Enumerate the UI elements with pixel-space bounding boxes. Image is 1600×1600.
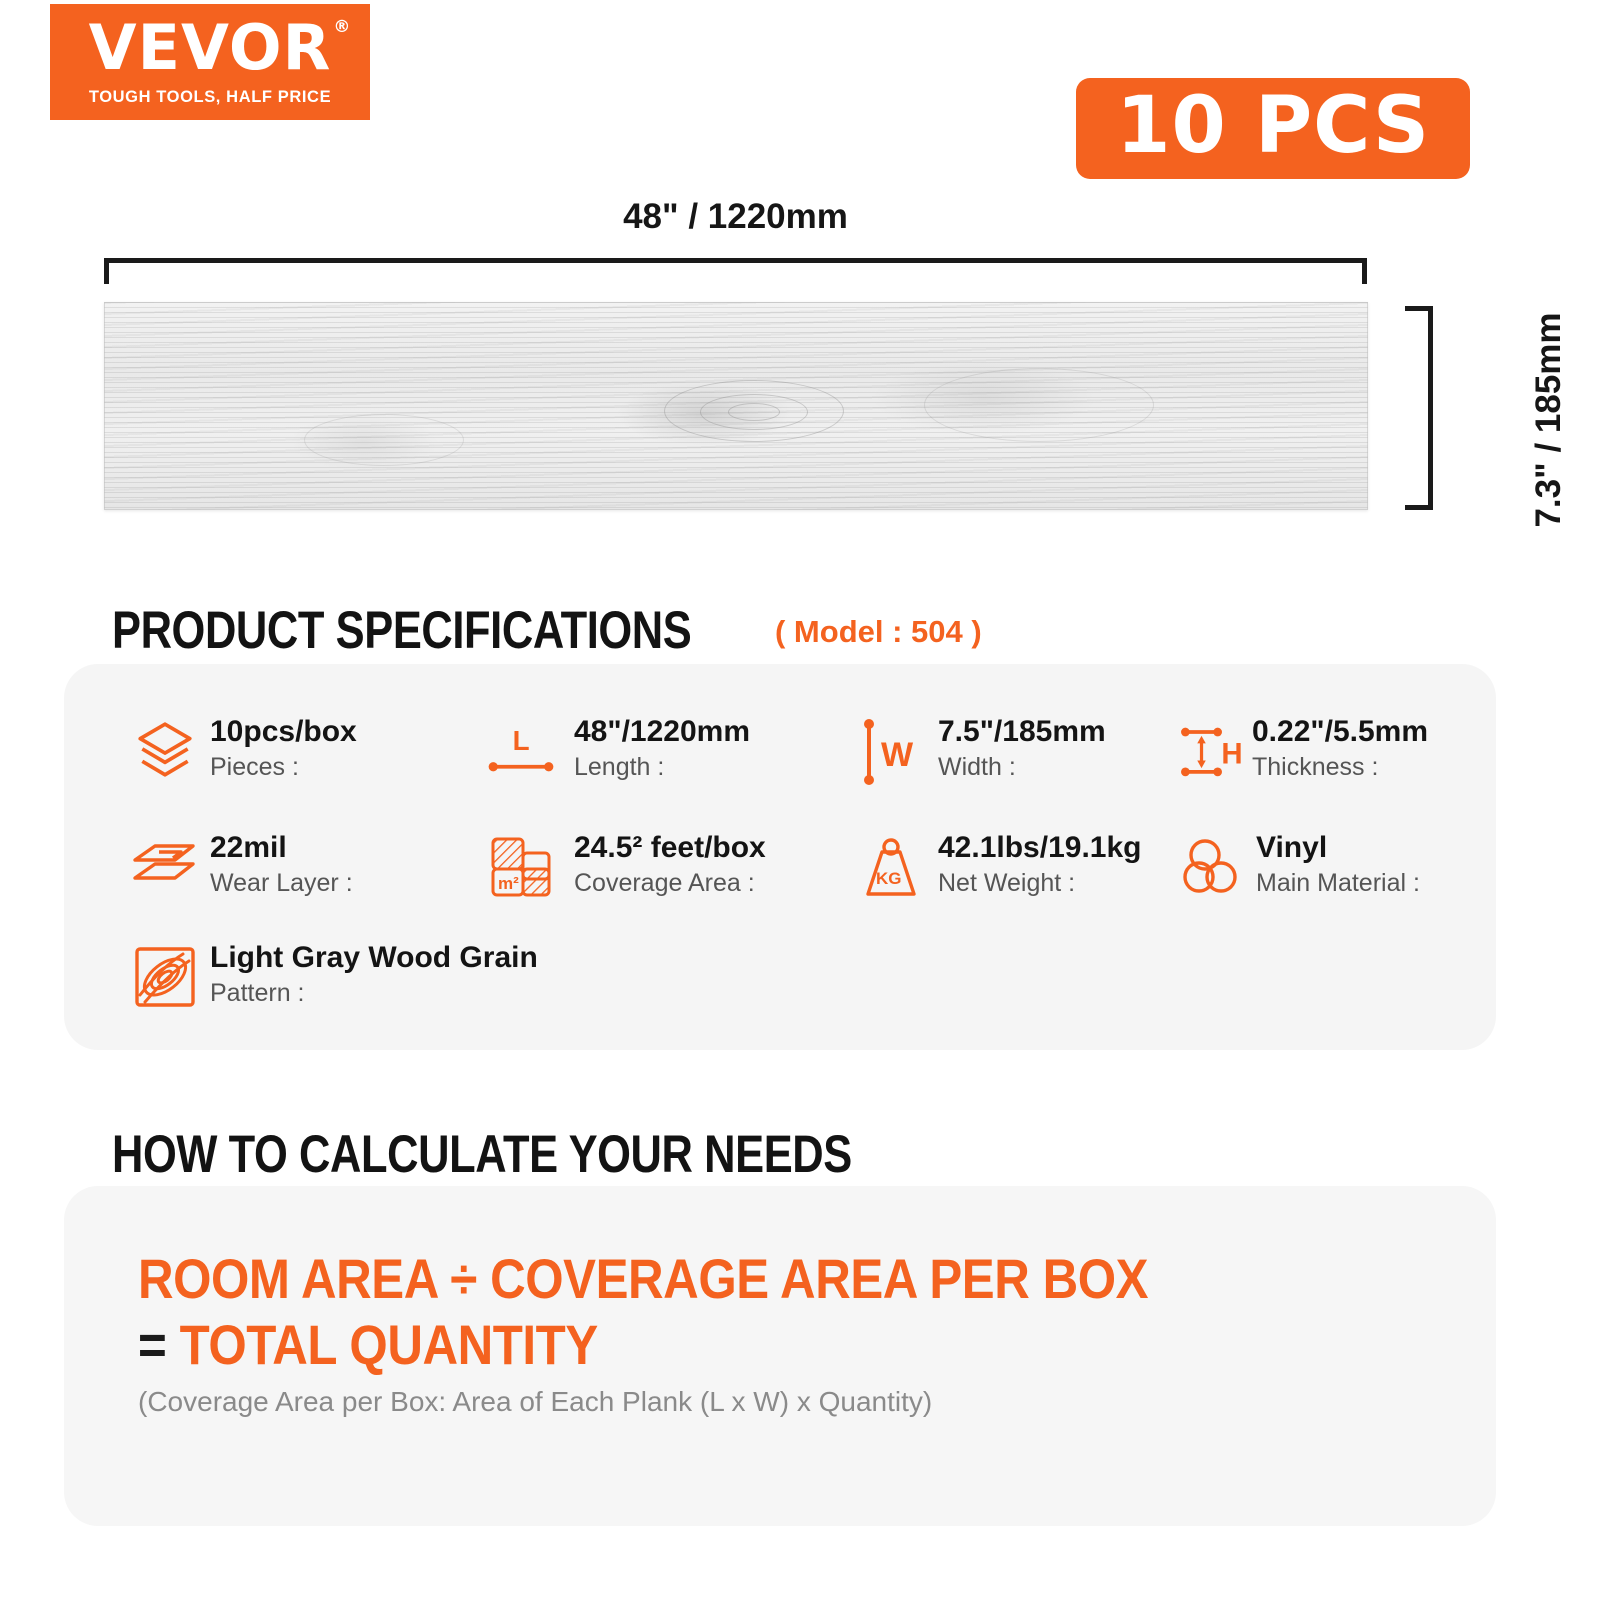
- spec-label: Net Weight :: [938, 867, 1141, 901]
- svg-text:H: H: [1221, 737, 1242, 770]
- spec-label: Width :: [938, 751, 1106, 785]
- width-dimension-label: 7.3" / 185mm: [1529, 260, 1569, 580]
- spec-item-thickness: H 0.22"/5.5mm Thickness :: [1174, 712, 1428, 788]
- brand-tagline: TOUGH TOOLS, HALF PRICE: [89, 88, 331, 107]
- spec-value: 24.5² feet/box: [574, 832, 766, 864]
- specifications-heading: PRODUCT SPECIFICATIONS: [112, 600, 691, 661]
- formula-line-2: TOTAL QUANTITY: [180, 1313, 598, 1376]
- quantity-badge-label: 10 PCS: [1116, 81, 1430, 171]
- brand-name: VEVOR ®: [89, 17, 332, 79]
- spec-value: 48"/1220mm: [574, 716, 750, 748]
- spec-label: Pieces :: [210, 751, 357, 785]
- svg-text:m²: m²: [498, 874, 519, 893]
- calculator-panel: ROOM AREA ÷ COVERAGE AREA PER BOX = TOTA…: [64, 1186, 1496, 1526]
- spec-value: 22mil: [210, 832, 353, 864]
- spec-label: Coverage Area :: [574, 867, 766, 901]
- stacked-layers-icon: [128, 714, 202, 788]
- width-measure-icon: W: [854, 714, 928, 788]
- calculation-formula: ROOM AREA ÷ COVERAGE AREA PER BOX = TOTA…: [138, 1246, 1148, 1378]
- length-measure-icon: L: [484, 714, 558, 788]
- model-number-label: ( Model : 504 ): [775, 614, 982, 650]
- color-circles-icon: [1174, 830, 1248, 904]
- registered-trademark-icon: ®: [333, 19, 351, 36]
- spec-item-net-weight: KG 42.1lbs/19.1kg Net Weight :: [854, 828, 1141, 904]
- spec-item-width: W 7.5"/185mm Width :: [854, 712, 1106, 788]
- coverage-area-icon: m²: [484, 830, 558, 904]
- length-dimension-bracket: [104, 258, 1367, 284]
- spec-item-pattern: Light Gray Wood Grain Pattern :: [128, 938, 538, 1014]
- brand-name-text: VEVOR: [89, 11, 332, 84]
- weight-kg-icon: KG: [854, 830, 928, 904]
- product-spec-page: VEVOR ® TOUGH TOOLS, HALF PRICE 10 PCS 4…: [0, 0, 1600, 1600]
- vevor-logo: VEVOR ® TOUGH TOOLS, HALF PRICE: [50, 4, 370, 120]
- spec-label: Main Material :: [1256, 867, 1420, 901]
- quantity-badge: 10 PCS: [1076, 78, 1470, 179]
- spec-label: Thickness :: [1252, 751, 1428, 785]
- spec-value: 0.22"/5.5mm: [1252, 716, 1428, 748]
- specifications-panel: 10pcs/box Pieces : L 48"/1220mm Length :: [64, 664, 1496, 1050]
- product-plank-image: [104, 302, 1368, 510]
- thickness-measure-icon: H: [1174, 714, 1248, 788]
- spec-value: 42.1lbs/19.1kg: [938, 832, 1141, 864]
- spec-item-coverage-area: m² 24.5² feet/box Coverage Area :: [484, 828, 766, 904]
- svg-text:KG: KG: [876, 869, 902, 888]
- spec-item-wear-layer: 22mil Wear Layer :: [128, 828, 353, 904]
- spec-value: 10pcs/box: [210, 716, 357, 748]
- calculator-heading: HOW TO CALCULATE YOUR NEEDS: [112, 1124, 852, 1185]
- formula-equals-sign: =: [138, 1313, 166, 1376]
- spec-label: Pattern :: [210, 977, 538, 1011]
- spec-item-main-material: Vinyl Main Material :: [1174, 828, 1420, 904]
- spec-value: Vinyl: [1256, 832, 1420, 864]
- formula-line-1: ROOM AREA ÷ COVERAGE AREA PER BOX: [138, 1246, 1148, 1312]
- spec-value: Light Gray Wood Grain: [210, 942, 538, 974]
- width-dimension-bracket: [1405, 306, 1433, 510]
- svg-text:L: L: [513, 725, 530, 756]
- spec-value: 7.5"/185mm: [938, 716, 1106, 748]
- wood-grain-icon: [128, 940, 202, 1014]
- length-dimension-label: 48" / 1220mm: [104, 197, 1367, 237]
- wear-layer-icon: [128, 830, 202, 904]
- spec-item-pieces: 10pcs/box Pieces :: [128, 712, 357, 788]
- svg-text:W: W: [881, 736, 914, 774]
- spec-label: Length :: [574, 751, 750, 785]
- spec-label: Wear Layer :: [210, 867, 353, 901]
- calculator-note: (Coverage Area per Box: Area of Each Pla…: [138, 1386, 932, 1418]
- spec-item-length: L 48"/1220mm Length :: [484, 712, 750, 788]
